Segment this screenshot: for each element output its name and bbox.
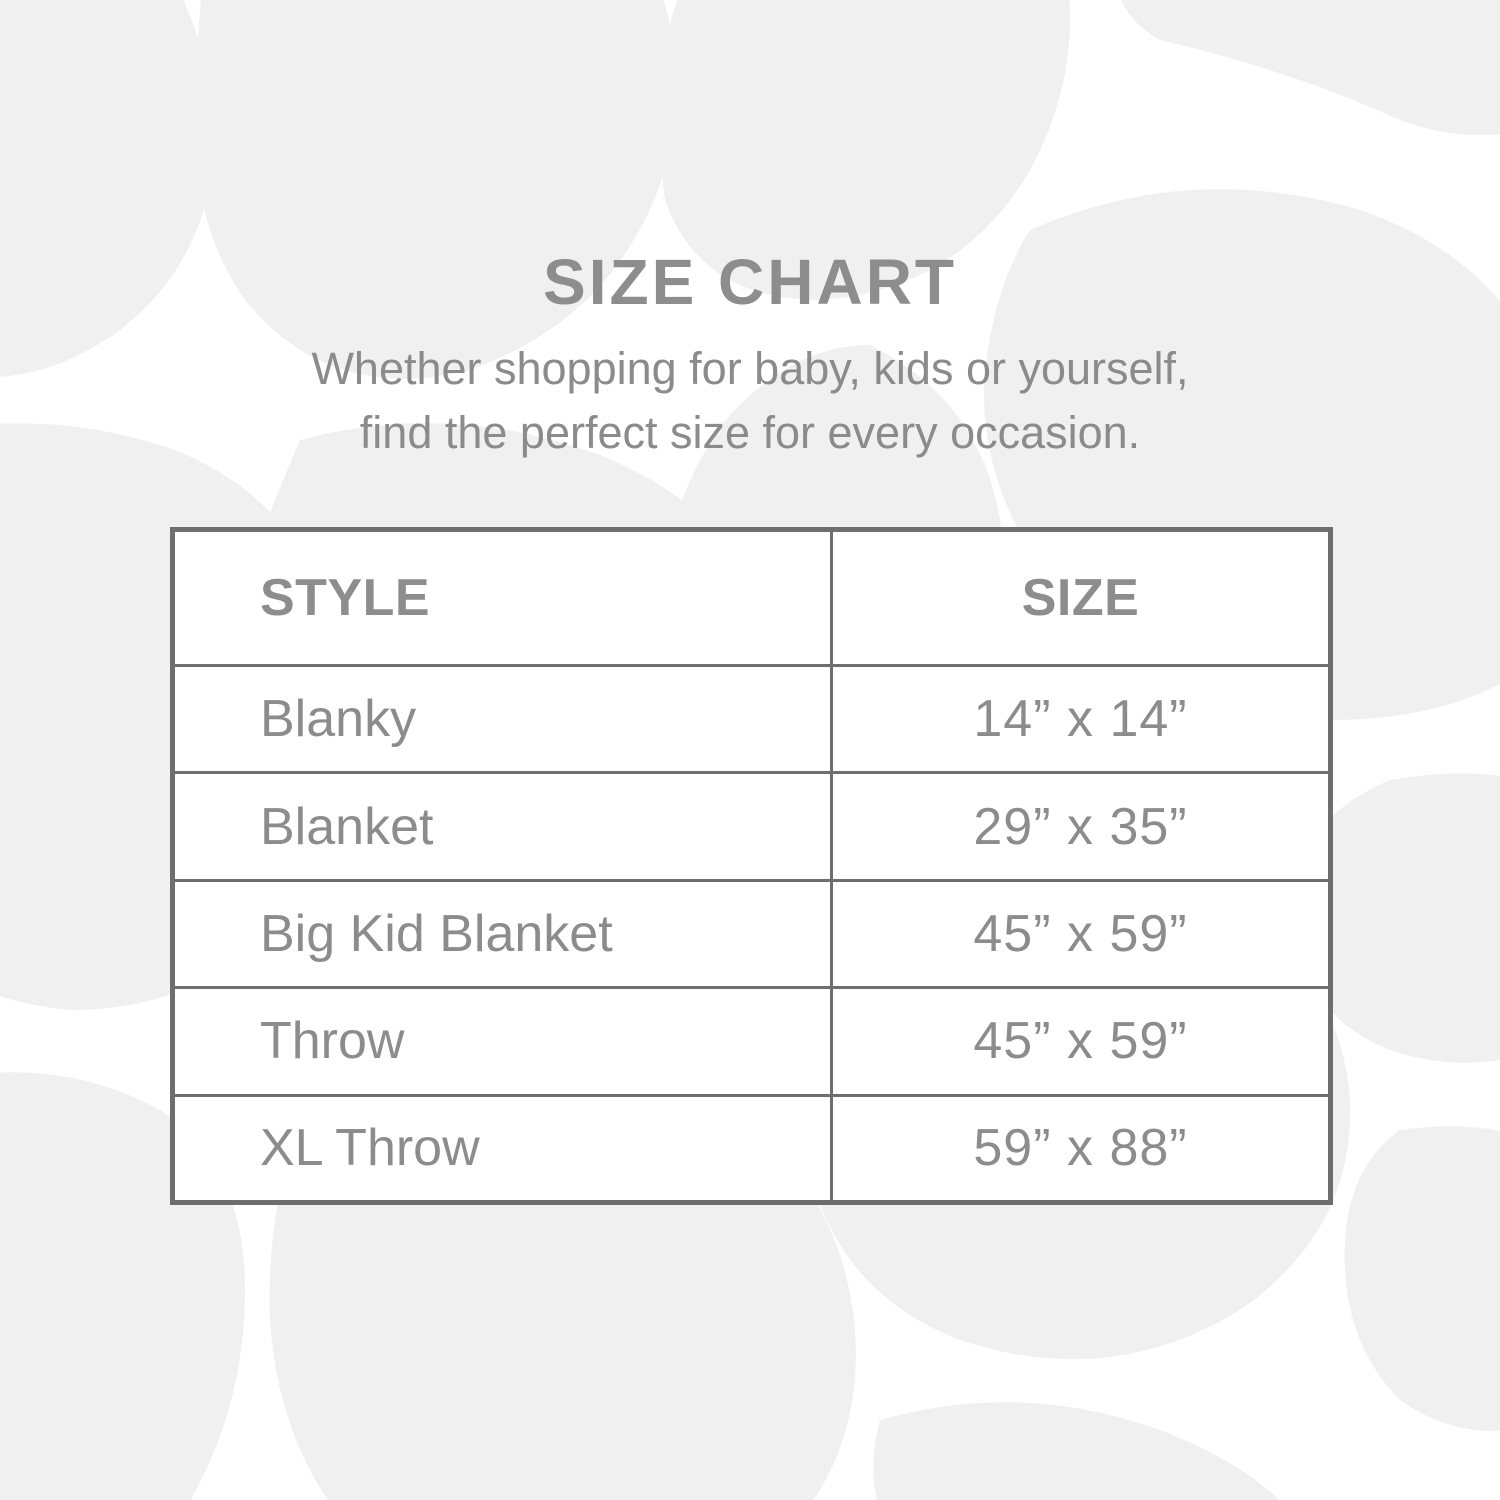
cell-size-value: 29” x 35” <box>832 773 1331 880</box>
table-row: XL Throw 59” x 88” <box>173 1095 1331 1202</box>
table-header: STYLE SIZE <box>173 530 1331 666</box>
table-header-row: STYLE SIZE <box>173 530 1331 666</box>
page-title: SIZE CHART <box>0 250 1500 314</box>
cell-size-value: 14” x 14” <box>832 666 1331 773</box>
cell-size-value: 59” x 88” <box>832 1095 1331 1202</box>
cell-style-name: Blanket <box>173 773 832 880</box>
cell-size-value: 45” x 59” <box>832 880 1331 987</box>
size-chart-table: STYLE SIZE Blanky 14” x 14” Blanket 29” … <box>170 527 1333 1205</box>
column-header-style: STYLE <box>173 530 832 666</box>
table-row: Throw 45” x 59” <box>173 988 1331 1095</box>
cell-size-value: 45” x 59” <box>832 988 1331 1095</box>
cell-style-name: Throw <box>173 988 832 1095</box>
cell-style-name: Blanky <box>173 666 832 773</box>
table-row: Blanky 14” x 14” <box>173 666 1331 773</box>
column-header-size: SIZE <box>832 530 1331 666</box>
cell-style-name: Big Kid Blanket <box>173 880 832 987</box>
table-body: Blanky 14” x 14” Blanket 29” x 35” Big K… <box>173 666 1331 1203</box>
table-row: Big Kid Blanket 45” x 59” <box>173 880 1331 987</box>
table-row: Blanket 29” x 35” <box>173 773 1331 880</box>
subtitle-line-1: Whether shopping for baby, kids or yours… <box>0 337 1500 401</box>
subtitle-line-2: find the perfect size for every occasion… <box>0 401 1500 465</box>
size-chart-page: SIZE CHART Whether shopping for baby, ki… <box>0 0 1500 1500</box>
cell-style-name: XL Throw <box>173 1095 832 1202</box>
page-subtitle: Whether shopping for baby, kids or yours… <box>0 337 1500 465</box>
